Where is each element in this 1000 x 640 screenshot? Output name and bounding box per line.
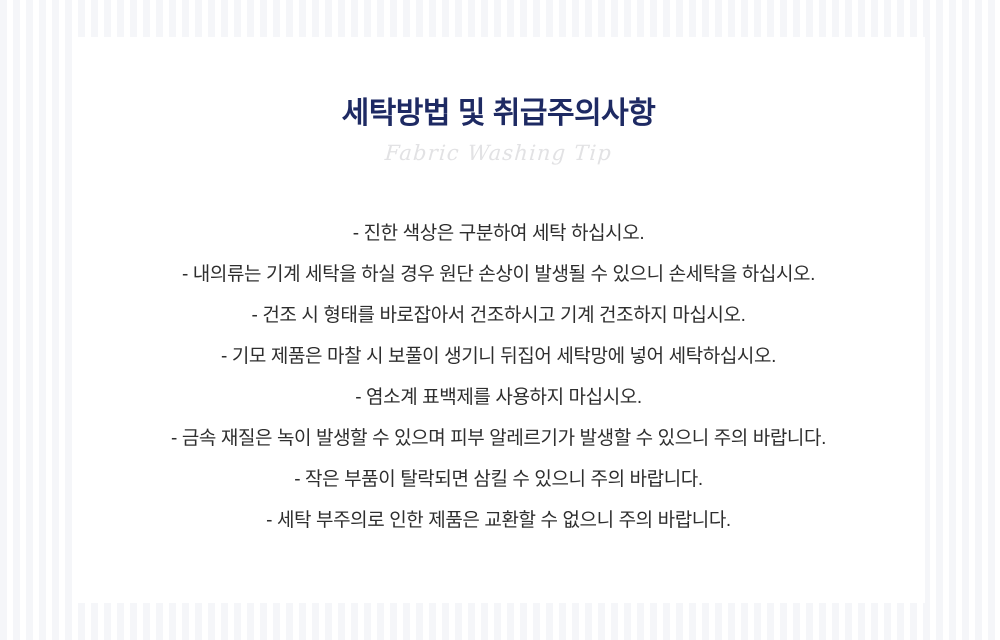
page-canvas: 세탁방법 및 취급주의사항 Fabric Washing Tip - 진한 색상… [0,0,1000,640]
list-item: - 작은 부품이 탈락되면 삼킬 수 있으니 주의 바랍니다. [72,459,925,500]
header-block: 세탁방법 및 취급주의사항 Fabric Washing Tip [72,95,925,166]
list-item: - 염소계 표백제를 사용하지 마십시오. [72,377,925,418]
page-title: 세탁방법 및 취급주의사항 [72,95,925,133]
list-item: - 내의류는 기계 세탁을 하실 경우 원단 손상이 발생될 수 있으니 손세탁… [72,254,925,295]
page-subtitle: Fabric Washing Tip [71,141,926,166]
list-item: - 기모 제품은 마찰 시 보풀이 생기니 뒤집어 세탁망에 넣어 세탁하십시오… [72,336,925,377]
list-item: - 건조 시 형태를 바로잡아서 건조하시고 기계 건조하지 마십시오. [72,295,925,336]
list-item: - 금속 재질은 녹이 발생할 수 있으며 피부 알레르기가 발생할 수 있으니… [72,418,925,459]
list-item: - 진한 색상은 구분하여 세탁 하십시오. [72,213,925,254]
list-item: - 세탁 부주의로 인한 제품은 교환할 수 없으니 주의 바랍니다. [72,500,925,541]
instruction-list: - 진한 색상은 구분하여 세탁 하십시오. - 내의류는 기계 세탁을 하실 … [72,213,925,541]
content-card: 세탁방법 및 취급주의사항 Fabric Washing Tip - 진한 색상… [72,37,925,603]
